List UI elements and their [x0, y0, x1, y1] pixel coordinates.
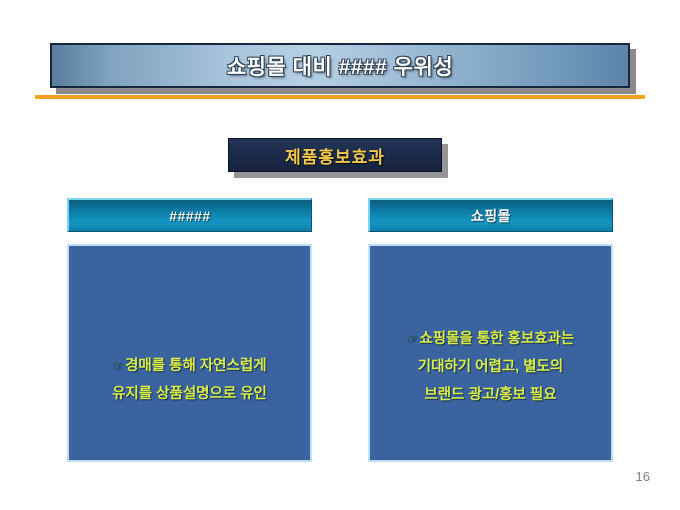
subheader-label: 제품홍보효과 — [285, 143, 385, 168]
column-right-line-1-text: 쇼핑몰을 통한 홍보효과는 — [419, 331, 574, 347]
column-right-line-1: ☞쇼핑몰을 통한 홍보효과는 — [407, 325, 574, 353]
column-body-right: ☞쇼핑몰을 통한 홍보효과는 기대하기 어렵고, 별도의 브랜드 광고/홍보 필… — [368, 244, 613, 462]
page-title: 쇼핑몰 대비 #### 우위성 — [227, 51, 453, 81]
column-right-text-stack: ☞쇼핑몰을 통한 홍보효과는 기대하기 어렵고, 별도의 브랜드 광고/홍보 필… — [407, 325, 574, 410]
comparison-column-left: ##### ☞경매를 통해 자연스럽게 유지를 상품설명으로 유인 — [67, 198, 312, 462]
title-banner-box: 쇼핑몰 대비 #### 우위성 — [50, 43, 630, 88]
column-left-line-1-text: 경매를 통해 자연스럽게 — [125, 358, 266, 374]
column-left-line-1: ☞경매를 통해 자연스럽게 — [112, 352, 267, 380]
column-left-text-stack: ☞경매를 통해 자연스럽게 유지를 상품설명으로 유인 — [112, 352, 267, 409]
column-header-left: ##### — [67, 198, 312, 232]
comparison-column-right: 쇼핑몰 ☞쇼핑몰을 통한 홍보효과는 기대하기 어렵고, 별도의 브랜드 광고/… — [368, 198, 613, 462]
column-header-right-label: 쇼핑몰 — [471, 206, 511, 226]
column-header-left-label: ##### — [169, 208, 210, 224]
pointing-hand-icon: ☞ — [407, 331, 419, 346]
orange-divider-rule — [35, 95, 645, 99]
column-left-line-2: 유지를 상품설명으로 유인 — [112, 380, 267, 408]
slide-title-banner: 쇼핑몰 대비 #### 우위성 — [50, 43, 630, 88]
column-right-line-3: 브랜드 광고/홍보 필요 — [407, 381, 574, 409]
column-body-left: ☞경매를 통해 자연스럽게 유지를 상품설명으로 유인 — [67, 244, 312, 462]
column-header-right: 쇼핑몰 — [368, 198, 613, 232]
slide-canvas: 쇼핑몰 대비 #### 우위성 제품홍보효과 ##### ☞경매를 통해 자연스… — [0, 0, 680, 510]
column-right-line-2: 기대하기 어렵고, 별도의 — [407, 353, 574, 381]
subheader-box: 제품홍보효과 — [228, 138, 442, 172]
subheader-banner: 제품홍보효과 — [228, 138, 442, 172]
page-number: 16 — [636, 469, 650, 484]
pointing-hand-icon: ☞ — [112, 358, 124, 373]
